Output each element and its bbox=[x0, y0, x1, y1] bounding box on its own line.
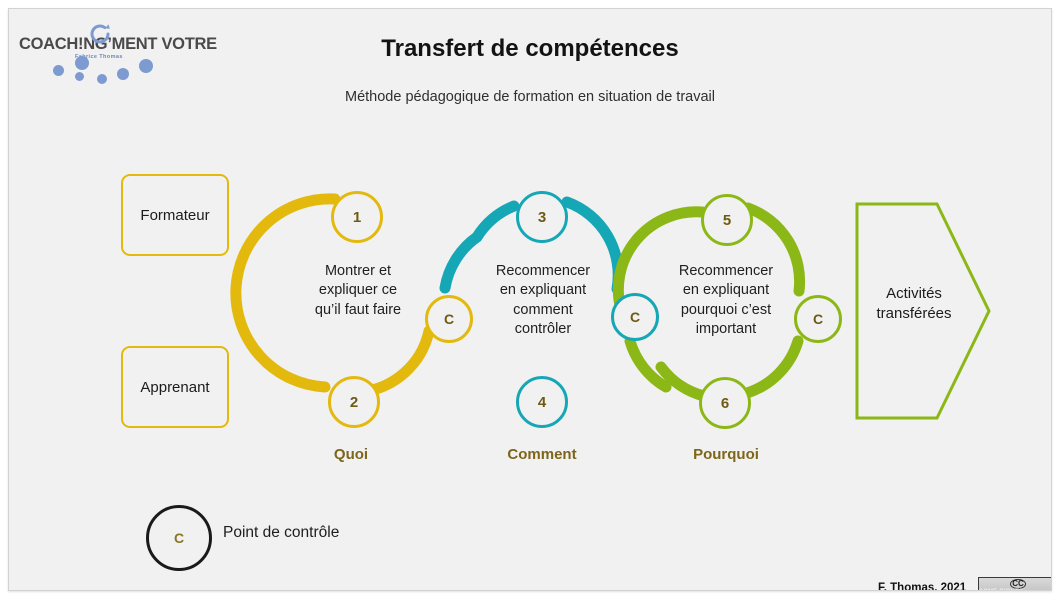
phase-description-pourquoi: Recommencer en expliquant pourquoi c’est… bbox=[647, 262, 805, 339]
phase-node-4[interactable]: 4 bbox=[516, 376, 568, 428]
cc-license-text: SOME RIGHTS RESERVED bbox=[979, 590, 1052, 591]
phase-node-1[interactable]: 1 bbox=[331, 191, 383, 243]
phase-description-comment: Recommencer en expliquant comment contrô… bbox=[466, 262, 620, 339]
phase-node-3[interactable]: 3 bbox=[516, 191, 568, 243]
control-point-1-label: C bbox=[444, 311, 454, 327]
control-point-2-label: C bbox=[630, 309, 640, 325]
phase-description-comment-line: Recommencer bbox=[466, 262, 620, 281]
author-credit: F. Thomas, 2021 bbox=[878, 582, 966, 591]
outcome-label-line: Activités bbox=[855, 284, 973, 304]
phase-description-pourquoi-line: en expliquant bbox=[647, 281, 805, 300]
outcome-label-line: transférées bbox=[855, 304, 973, 324]
slide-canvas: COACH!NG’MENT VOTRE Fabrice Thomas Trans… bbox=[8, 8, 1052, 591]
phase-node-3-label: 3 bbox=[538, 209, 546, 226]
phase-label-pourquoi: Pourquoi bbox=[646, 446, 806, 463]
cc-mark-text: CC bbox=[1010, 579, 1026, 589]
phase-description-pourquoi-line: Recommencer bbox=[647, 262, 805, 281]
creative-commons-badge: CC SOME RIGHTS RESERVED bbox=[978, 577, 1052, 591]
phase-node-1-label: 1 bbox=[353, 209, 361, 226]
phase-description-quoi-line: qu’il faut faire bbox=[281, 301, 435, 320]
phase-node-2[interactable]: 2 bbox=[328, 376, 380, 428]
phase-description-comment-line: comment bbox=[466, 301, 620, 320]
phase-node-2-label: 2 bbox=[350, 394, 358, 411]
phase-node-5-label: 5 bbox=[723, 212, 731, 229]
legend-symbol: C bbox=[174, 530, 184, 546]
phase-label-quoi: Quoi bbox=[271, 446, 431, 463]
phase-node-5[interactable]: 5 bbox=[701, 194, 753, 246]
outcome-label: Activités transférées bbox=[855, 284, 973, 325]
control-point-3-label: C bbox=[813, 311, 823, 327]
arc-green-bottom-right bbox=[747, 341, 798, 393]
phase-node-4-label: 4 bbox=[538, 394, 546, 411]
phase-description-quoi-line: Montrer et bbox=[281, 262, 435, 281]
phase-label-comment: Comment bbox=[462, 446, 622, 463]
phase-description-comment-line: en expliquant bbox=[466, 281, 620, 300]
phase-description-pourquoi-line: important bbox=[647, 320, 805, 339]
phase-node-6-label: 6 bbox=[721, 395, 729, 412]
legend-label: Point de contrôle bbox=[223, 524, 339, 542]
phase-description-quoi-line: expliquer ce bbox=[281, 281, 435, 300]
phase-description-comment-line: contrôler bbox=[466, 320, 620, 339]
phase-description-quoi: Montrer et expliquer ce qu’il faut faire bbox=[281, 262, 435, 320]
phase-node-6[interactable]: 6 bbox=[699, 377, 751, 429]
legend-control-point-icon: C bbox=[146, 505, 212, 571]
phase-description-pourquoi-line: pourquoi c’est bbox=[647, 301, 805, 320]
arc-teal-upper-left bbox=[477, 206, 514, 237]
